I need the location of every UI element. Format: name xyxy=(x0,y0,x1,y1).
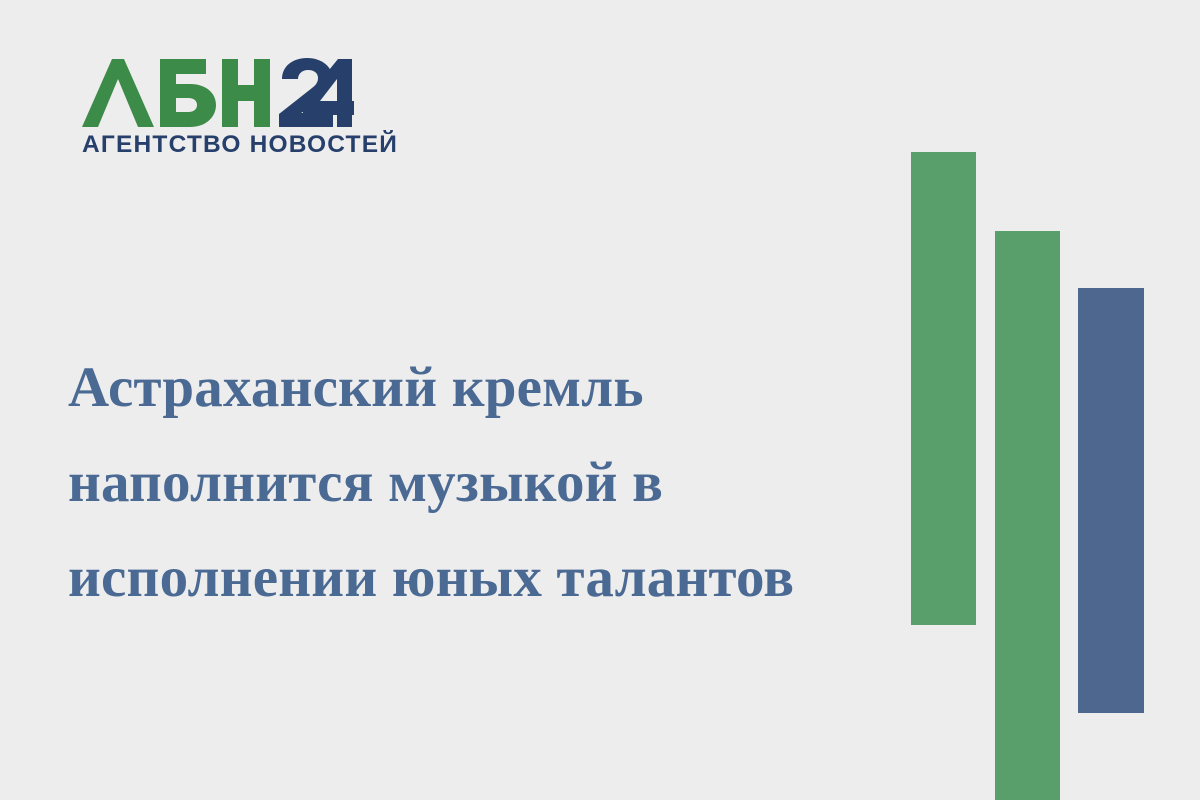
decorative-bar-2 xyxy=(995,231,1060,800)
logo-tagline: АГЕНТСТВО НОВОСТЕЙ xyxy=(82,133,372,158)
page-title: Астраханский кремль наполнится музыкой в… xyxy=(68,340,868,625)
headline-line-1: Астраханский кремль xyxy=(68,340,868,435)
abn24-logo[interactable]: АГЕНТСТВО НОВОСТЕЙ xyxy=(82,57,372,158)
decorative-bar-3 xyxy=(1078,288,1144,713)
abn24-wordmark-icon xyxy=(82,57,354,129)
decorative-bar-1 xyxy=(911,152,976,625)
headline-line-2: наполнится музыкой в xyxy=(68,435,868,530)
headline-line-3: исполнении юных талантов xyxy=(68,530,868,625)
